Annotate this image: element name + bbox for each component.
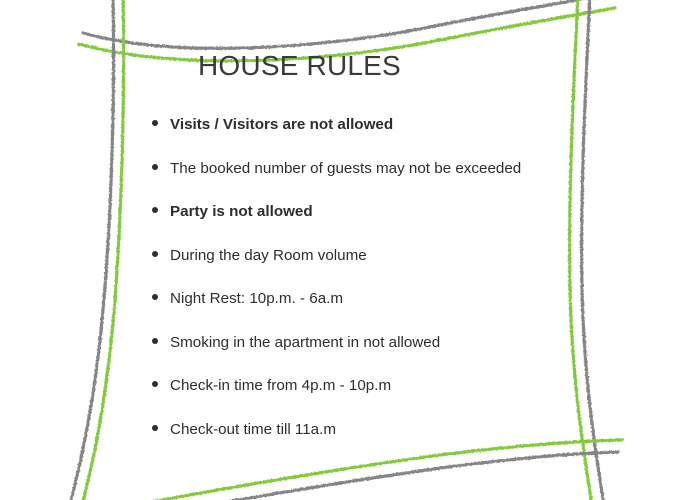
- bullet-icon: [152, 381, 158, 387]
- bullet-icon: [152, 425, 158, 431]
- rule-text: Check-in time from 4p.m - 10p.m: [170, 375, 391, 396]
- bullet-icon: [152, 207, 158, 213]
- rule-text: The booked number of guests may not be e…: [170, 158, 521, 179]
- list-item: Night Rest: 10p.m. - 6a.m: [148, 288, 668, 332]
- rule-text: Party is not allowed: [170, 201, 313, 222]
- list-item: Check-out time till 11a.m: [148, 419, 668, 463]
- house-rules-page: HOUSE RULES Visits / Visitors are not al…: [0, 0, 700, 500]
- rule-text: During the day Room volume: [170, 245, 367, 266]
- rule-text: Smoking in the apartment in not allowed: [170, 332, 440, 353]
- bullet-icon: [152, 294, 158, 300]
- list-item: Party is not allowed: [148, 201, 668, 245]
- list-item: Visits / Visitors are not allowed: [148, 114, 668, 158]
- bullet-icon: [152, 164, 158, 170]
- rule-text: Visits / Visitors are not allowed: [170, 114, 393, 135]
- bullet-icon: [152, 338, 158, 344]
- content-area: HOUSE RULES Visits / Visitors are not al…: [0, 0, 700, 500]
- rule-text: Check-out time till 11a.m: [170, 419, 336, 440]
- list-item: Check-in time from 4p.m - 10p.m: [148, 375, 668, 419]
- list-item: The booked number of guests may not be e…: [148, 158, 668, 202]
- bullet-icon: [152, 120, 158, 126]
- house-rules-list: Visits / Visitors are not allowed The bo…: [148, 114, 668, 462]
- bullet-icon: [152, 251, 158, 257]
- list-item: During the day Room volume: [148, 245, 668, 289]
- page-title: HOUSE RULES: [198, 50, 401, 82]
- rule-text: Night Rest: 10p.m. - 6a.m: [170, 288, 343, 309]
- list-item: Smoking in the apartment in not allowed: [148, 332, 668, 376]
